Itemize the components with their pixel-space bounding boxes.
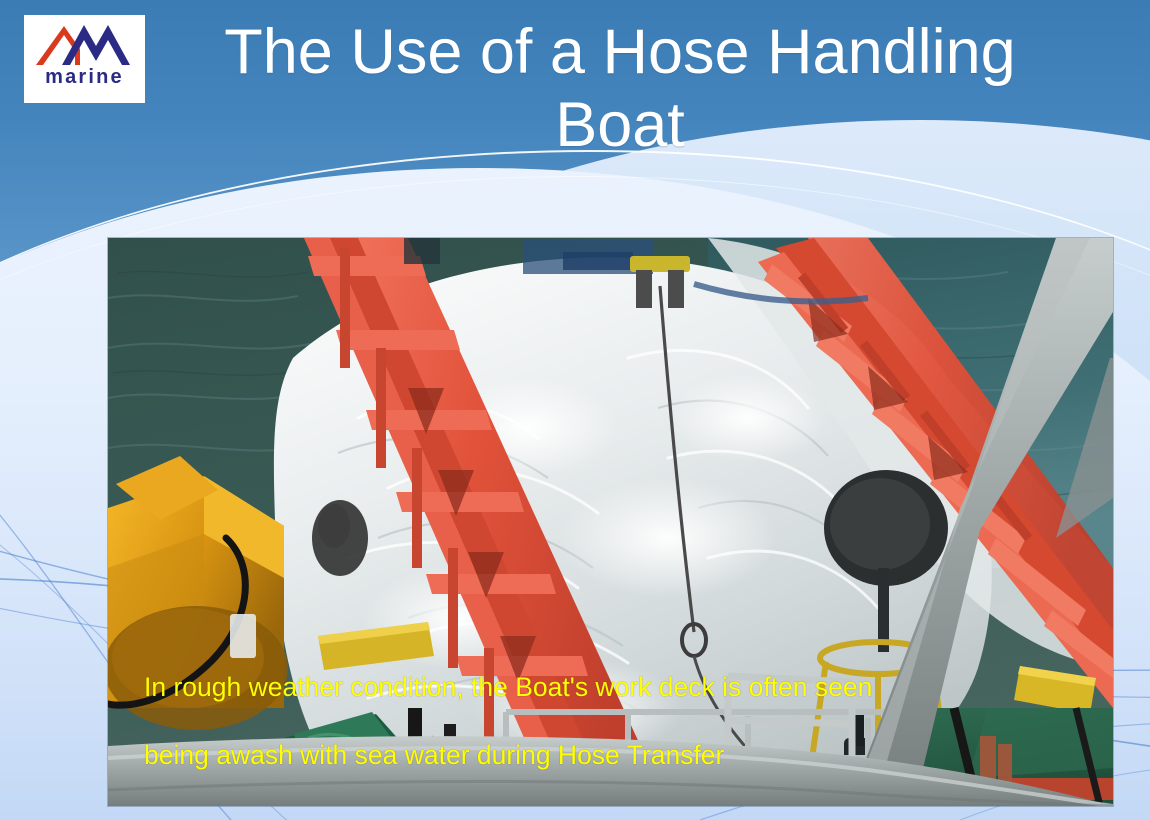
presentation-slide: marine The Use of a Hose Handling Boat xyxy=(0,0,1150,820)
company-logo: marine xyxy=(24,15,145,103)
photo-caption-line-1: In rough weather condition, the Boat's w… xyxy=(144,672,872,702)
photo-caption-line-2: being awash with sea water during Hose T… xyxy=(144,740,724,770)
slide-title-line-1: The Use of a Hose Handling xyxy=(224,17,1015,87)
logo-wordmark: marine xyxy=(24,67,145,87)
slide-title-line-2: Boat xyxy=(555,90,685,160)
slide-title: The Use of a Hose Handling Boat xyxy=(170,16,1070,162)
slide-photo: In rough weather condition, the Boat's w… xyxy=(108,238,1113,806)
mm-logo-icon xyxy=(24,19,145,69)
photo-caption: In rough weather condition, the Boat's w… xyxy=(144,636,1044,772)
